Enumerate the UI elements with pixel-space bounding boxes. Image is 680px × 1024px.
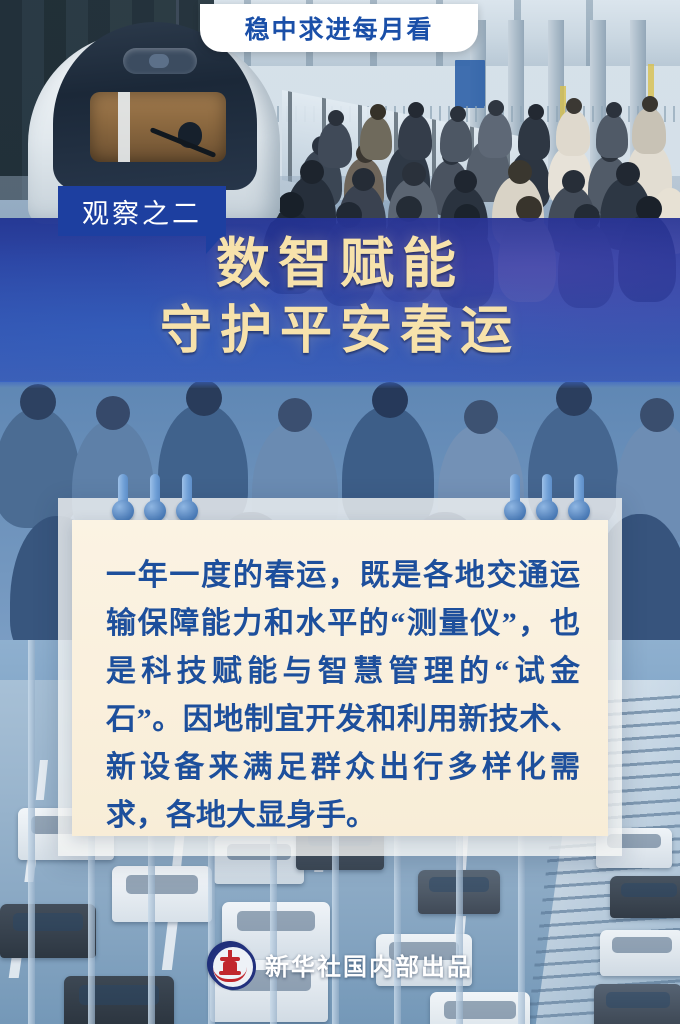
train-headlamp bbox=[123, 48, 197, 74]
car bbox=[112, 866, 212, 922]
quote-card-body: 一年一度的春运，既是各地交通运输保障能力和水平的“测量仪”，也是科技赋能与智慧管… bbox=[106, 552, 580, 840]
car bbox=[594, 984, 680, 1024]
train-window-pillar bbox=[118, 92, 130, 162]
column-badge-label: 稳中求进每月看 bbox=[244, 10, 433, 46]
car bbox=[610, 876, 680, 918]
title-line-2: 守护平安春运 bbox=[0, 298, 680, 366]
series-tag-tail bbox=[206, 236, 222, 254]
car bbox=[430, 992, 530, 1024]
xinhua-emblem-icon bbox=[207, 941, 253, 987]
poster-title: 数智赋能 守护平安春运 bbox=[0, 230, 680, 366]
column-badge: 稳中求进每月看 bbox=[200, 4, 478, 52]
footer-label: 新华社国内部出品 bbox=[265, 947, 473, 982]
footer: 新华社国内部出品 bbox=[0, 938, 680, 990]
series-tag-bubble: 观察之二 bbox=[58, 186, 226, 236]
poster-root: 数智赋能 守护平安春运 观察之二 稳中求进每月看 一年一度的春运，既是各地交通运… bbox=[0, 0, 680, 1024]
title-line-1: 数智赋能 bbox=[0, 230, 680, 298]
series-tag-label: 观察之二 bbox=[82, 192, 202, 231]
